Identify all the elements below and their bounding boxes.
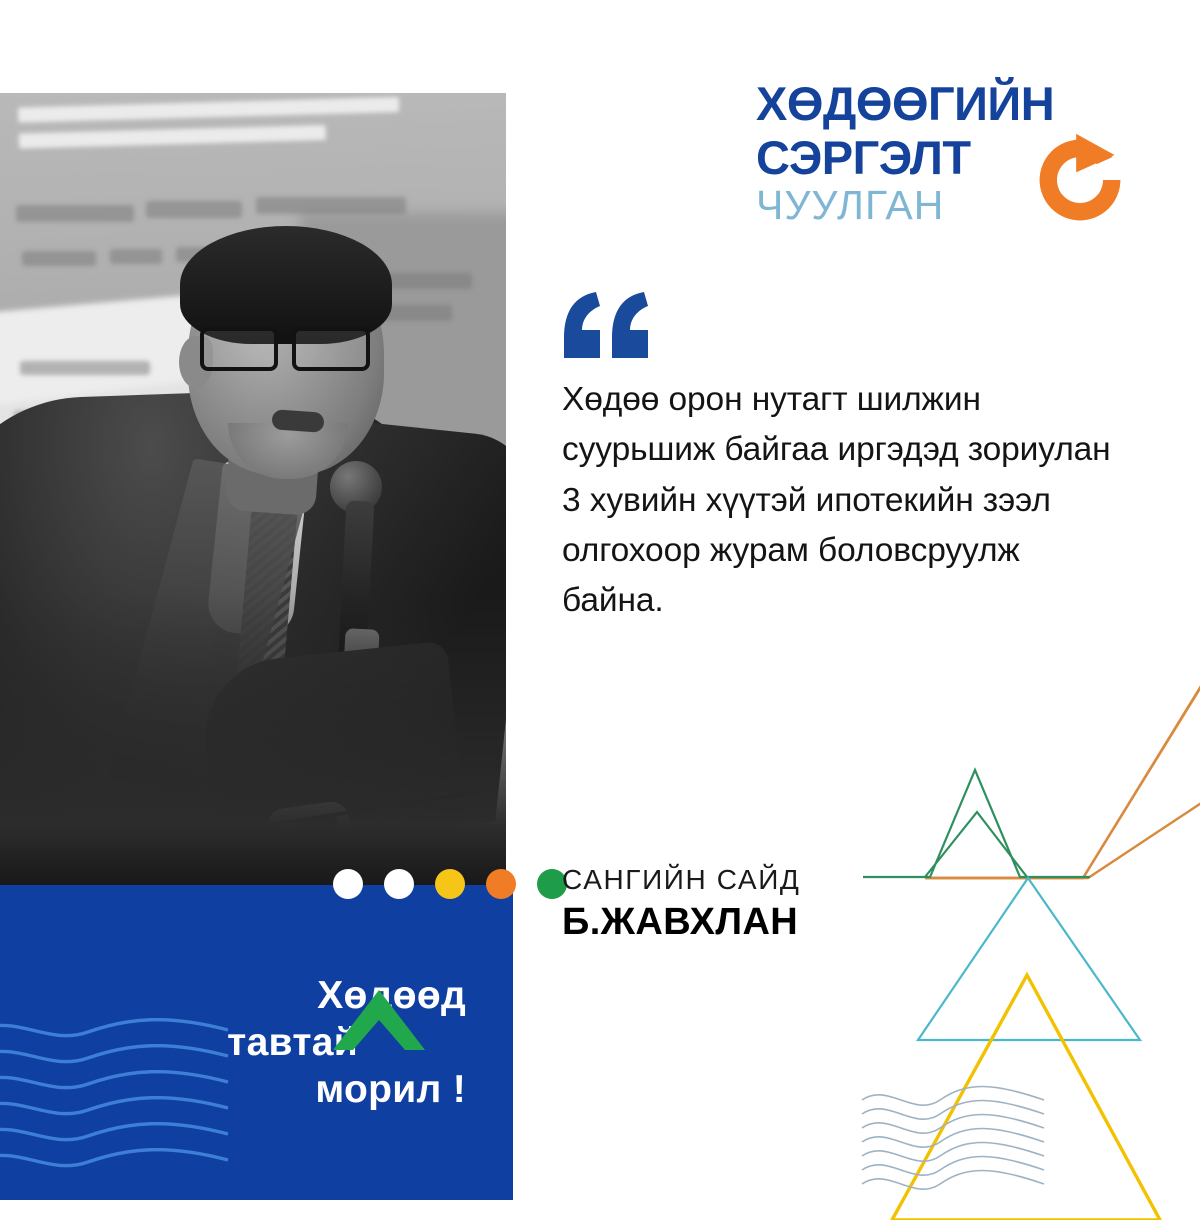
orange-open-chevron-second bbox=[933, 710, 1200, 878]
dot-orange bbox=[486, 869, 516, 899]
speaker-mouth bbox=[271, 409, 324, 433]
slogan-panel: Хөдөөд тавтай морил ! bbox=[0, 885, 513, 1200]
attribution: САНГИЙН САЙД Б.ЖАВХЛАН bbox=[562, 864, 800, 944]
refresh-circle-arrow-icon bbox=[1032, 132, 1128, 228]
logo-line-1: ХӨДӨӨГИЙН bbox=[756, 80, 1126, 127]
dot-white-2 bbox=[384, 869, 414, 899]
orange-open-chevron-outer bbox=[925, 640, 1200, 878]
dot-yellow bbox=[435, 869, 465, 899]
quote-text: Хөдөө орон нутагт шилжин суурьшиж байгаа… bbox=[562, 375, 1122, 626]
speaker-photo bbox=[0, 93, 506, 893]
green-mountain-inner bbox=[925, 812, 1027, 877]
decorative-geometry bbox=[830, 620, 1200, 1220]
dot-row bbox=[333, 869, 567, 899]
dot-white-1 bbox=[333, 869, 363, 899]
photo-bottom-fade bbox=[0, 593, 506, 893]
quote-open-icon bbox=[562, 292, 650, 358]
orange-open-chevron-inner bbox=[990, 778, 1200, 878]
photo-canvas bbox=[0, 93, 506, 893]
teal-triangle bbox=[918, 878, 1140, 1040]
slogan-line-3: морил ! bbox=[46, 1067, 466, 1114]
attribution-role: САНГИЙН САЙД bbox=[562, 864, 800, 896]
attribution-name: Б.ЖАВХЛАН bbox=[562, 901, 800, 944]
green-mountain-outer bbox=[863, 770, 1090, 877]
orange-line-inner bbox=[926, 784, 1200, 878]
event-logo: ХӨДӨӨГИЙН СЭРГЭЛТ ЧУУЛГАН bbox=[756, 80, 1126, 230]
grey-wave-lines bbox=[862, 1087, 1044, 1190]
glasses-icon bbox=[196, 327, 392, 373]
orange-line-outer bbox=[925, 642, 1200, 878]
chevron-up-green-icon bbox=[331, 988, 427, 1052]
poster-card: Хөдөөд тавтай морил ! ХӨДӨӨГИЙН СЭРГЭЛТ … bbox=[0, 0, 1200, 1200]
